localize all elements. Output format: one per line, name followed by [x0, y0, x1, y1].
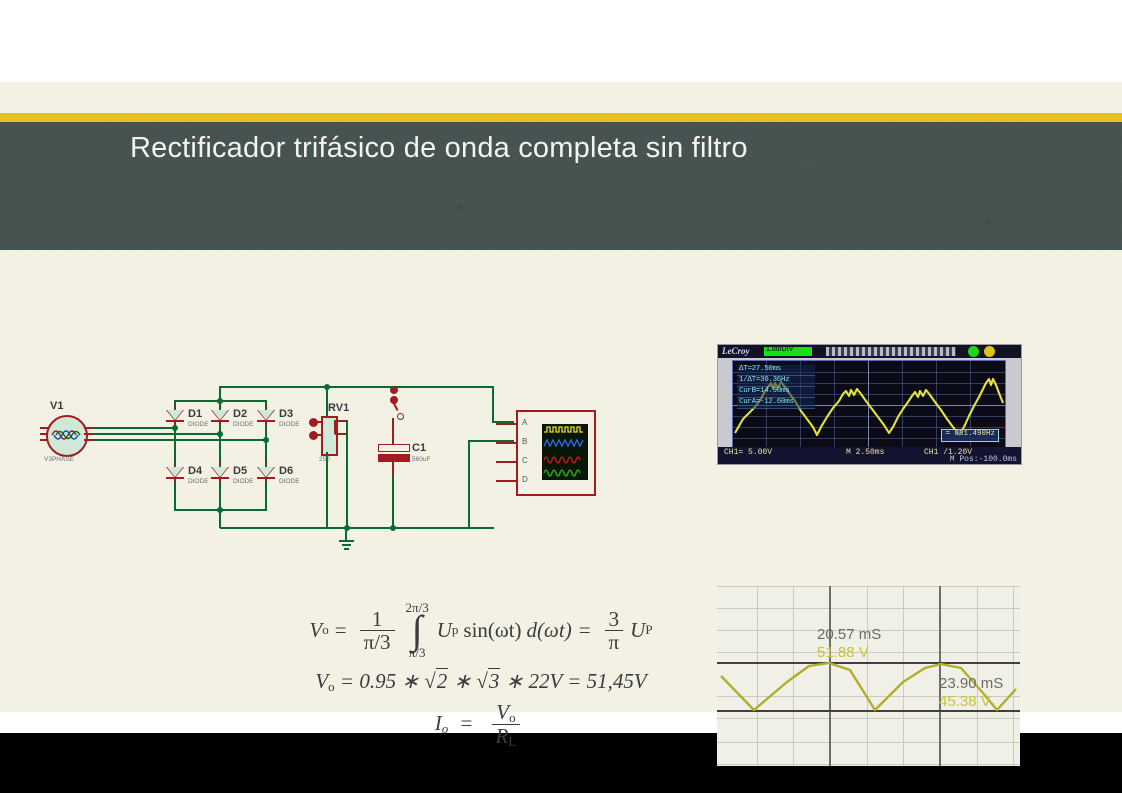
source-model: V3PHASE	[44, 456, 74, 463]
cap-branch-top	[392, 386, 394, 389]
diode-d3-ref: D3	[279, 408, 293, 420]
source-lead-left-1	[40, 427, 48, 429]
formula2-eq2: =	[567, 669, 581, 693]
capacitor-top-lead	[392, 418, 394, 444]
formula-integral-lower: π/3	[409, 645, 426, 661]
lecroy-status-led-yellow	[984, 346, 995, 357]
formula2-lhs-sub: o	[328, 679, 335, 694]
diode-d3-type: DIODE	[279, 421, 300, 428]
diode-d6-type: DIODE	[279, 478, 300, 485]
diode-d2-ref: D2	[233, 408, 247, 420]
scope-wire-b-h	[468, 527, 494, 529]
diode-d2-type: DIODE	[233, 421, 254, 428]
scope-traces-icon	[542, 424, 588, 480]
formula2-star1: ∗	[401, 669, 419, 693]
diode-d4-type: DIODE	[188, 478, 209, 485]
lecroy-oscilloscope-photo: LeCroy 1.00/DIV	[717, 344, 1022, 465]
formula3-eq: =	[460, 711, 472, 735]
lecroy-titlebar: LeCroy 1.00/DIV	[718, 345, 1021, 358]
scope-pin-a	[496, 423, 518, 425]
formula-frac-left-den: π/3	[360, 630, 395, 653]
formula3-den-wrap: RL	[492, 724, 521, 749]
phase-wire-b	[94, 433, 220, 435]
formula3-den-sub: L	[508, 734, 516, 749]
formula-frac-right-num: 3	[605, 608, 624, 630]
source-lead-right-3	[84, 439, 94, 441]
formula3-num-wrap: Vo	[492, 701, 519, 725]
lecroy-readout-delta-t: ΔT=27.50ms	[737, 365, 815, 376]
formula-up-sub: p	[452, 622, 459, 638]
formula-up: U	[437, 618, 452, 643]
diode-d1-ref: D1	[188, 408, 202, 420]
formula-frac-right: 3 π	[605, 608, 624, 653]
slide-body: V1 V3PHASE	[0, 250, 1122, 712]
pot-bottom-wire	[326, 452, 328, 528]
formula-integral: 2π/3 ∫ π/3	[406, 600, 429, 661]
lecroy-readout-cursor-b: CurB=14.90ms	[737, 387, 815, 398]
formula2-star2: ∗	[453, 669, 471, 693]
potentiometer-value: 250	[319, 456, 330, 463]
circuit-schematic: V1 V3PHASE	[40, 380, 610, 580]
scope-wire-b-v	[468, 440, 470, 528]
dc-positive-rail	[220, 386, 492, 388]
formula3-io-sub: o	[442, 721, 449, 736]
formula3-frac: Vo RL	[492, 701, 521, 749]
dc-negative-rail	[220, 527, 492, 529]
formula-up-result-sub: P	[645, 622, 652, 638]
lecroy-status-led-green	[968, 346, 979, 357]
header-top-cream-band	[0, 82, 1122, 113]
diode-d6-symbol	[255, 465, 277, 481]
source-lead-left-2	[40, 433, 48, 435]
diode-d1-type: DIODE	[188, 421, 209, 428]
formula2-result: 51,45V	[587, 669, 647, 693]
diode-d4-ref: D4	[188, 465, 202, 477]
lecroy-frequency-readout: = 881.490Hz	[941, 429, 999, 442]
potentiometer-ref: RV1	[328, 402, 349, 414]
formula-sin: sin(ωt)	[463, 618, 521, 643]
pot-wiper-wire	[346, 420, 348, 528]
plot-annotation-time-1: 20.57 mS	[817, 626, 881, 643]
formula-eq-2: =	[579, 618, 591, 643]
three-phase-waveform-icon	[51, 425, 81, 445]
cap-ground-node	[390, 525, 396, 531]
formula-eq-1: =	[335, 618, 347, 643]
formula3-num: V	[496, 700, 509, 724]
formula-block: Vo = 1 π/3 2π/3 ∫ π/3 Up sin(ωt) d(ωt) =	[296, 600, 666, 749]
lecroy-channel-scale: CH1= 5.00V	[724, 448, 772, 457]
formula3-num-sub: o	[509, 710, 516, 725]
formula2-lhs: V	[315, 669, 328, 693]
three-phase-source-icon	[46, 415, 88, 457]
switch-contact[interactable]	[397, 413, 404, 420]
lecroy-trace-ribbon	[826, 347, 956, 356]
pot-lead-2	[316, 434, 322, 436]
lecroy-horizontal-position: M Pos:-100.0ms	[950, 455, 1017, 464]
capacitor-ref: C1	[412, 442, 426, 454]
formula2-f1: 2	[436, 668, 449, 693]
phase-wire-c	[94, 439, 266, 441]
source-lead-right-2	[84, 433, 94, 435]
source-ref: V1	[50, 400, 63, 412]
scope-pin-b	[496, 442, 518, 444]
lecroy-brand-logo: LeCroy	[722, 346, 750, 356]
page-title: Rectificador trifásico de onda completa …	[130, 132, 748, 165]
diode-d2-symbol	[209, 408, 231, 424]
diode-d1-symbol	[164, 408, 186, 424]
header-gold-stripe	[0, 113, 1122, 122]
capacitor-plate-bottom	[378, 454, 410, 462]
lecroy-readout-inv-delta-t: 1/ΔT=36.36Hz	[737, 376, 815, 387]
plot-annotation-voltage-2: 45.38 V	[939, 693, 991, 710]
plot-annotation-time-2: 23.90 mS	[939, 675, 1003, 692]
source-lead-right-1	[84, 427, 94, 429]
formula3-den: R	[496, 724, 509, 748]
scope-label-b: B	[522, 437, 527, 446]
lecroy-badge-label: 1.00/DIV	[766, 346, 793, 353]
scope-label-c: C	[522, 456, 528, 465]
pot-wiper-arm	[334, 420, 336, 434]
scope-wire-a-v	[492, 386, 494, 422]
formula-line-3: Io = Vo RL	[296, 701, 666, 749]
sqrt-icon-1: √2	[424, 668, 448, 693]
pot-top-node	[324, 384, 330, 390]
slide: Rectificador trifásico de onda completa …	[0, 82, 1122, 712]
scope-pin-c	[496, 461, 518, 463]
lecroy-timebase: M 2.50ms	[846, 448, 884, 457]
scope-label-d: D	[522, 475, 528, 484]
pot-top-wire	[326, 386, 328, 416]
diode-d5-symbol	[209, 465, 231, 481]
formula-vo: V	[309, 618, 322, 643]
dc-negative-riser	[219, 509, 221, 528]
phase-wire-a	[94, 427, 175, 429]
formula-line-2: Vo = 0.95 ∗ √2 ∗ √3 ∗ 22V = 51,45V	[296, 669, 666, 695]
formula2-coef: 0.95	[359, 669, 396, 693]
formula-up-result: U	[630, 618, 645, 643]
cap-branch-bottom	[392, 476, 394, 528]
slide-deck: Rectificador trifásico de onda completa …	[0, 0, 1122, 793]
formula-frac-left: 1 π/3	[360, 608, 395, 653]
formula2-star3: ∗	[506, 669, 524, 693]
formula2-volts: 22V	[528, 669, 561, 693]
formula3-io: I	[435, 711, 442, 735]
pot-lead-1	[316, 421, 322, 423]
diode-d6-ref: D6	[279, 465, 293, 477]
lecroy-channel-marker: 1→	[721, 391, 733, 400]
formula2-eq: =	[340, 669, 354, 693]
formula-line-1: Vo = 1 π/3 2π/3 ∫ π/3 Up sin(ωt) d(ωt) =	[296, 600, 666, 661]
formula-frac-left-num: 1	[368, 608, 387, 630]
diode-d4-symbol	[164, 465, 186, 481]
scope-screen	[542, 424, 588, 480]
scope-label-a: A	[522, 418, 527, 427]
lecroy-measurement-readouts: ΔT=27.50ms 1/ΔT=36.36Hz CurB=14.90ms Cur…	[737, 365, 815, 409]
lecroy-graticule: ΔT=27.50ms 1/ΔT=36.36Hz CurB=14.90ms Cur…	[732, 360, 1006, 449]
formula2-f2: 3	[488, 668, 501, 693]
formula-dwt: d(ωt)	[527, 618, 572, 643]
lecroy-statusbar: CH1= 5.00V M 2.50ms CH1 /1.20V M Pos:-10…	[718, 447, 1021, 464]
capacitor-value: 560uF	[412, 456, 430, 463]
sqrt-icon-2: √3	[476, 668, 500, 693]
oscilloscope-instrument[interactable]: A B C D	[516, 410, 596, 496]
diode-d5-ref: D5	[233, 465, 247, 477]
formula-vo-sub: o	[322, 622, 329, 638]
diode-d3-symbol	[255, 408, 277, 424]
scope-pin-d	[496, 480, 518, 482]
formula-frac-right-den: π	[605, 630, 624, 653]
diode-d5-type: DIODE	[233, 478, 254, 485]
dc-positive-riser	[219, 386, 221, 401]
capacitor-plate-top	[378, 444, 410, 452]
source-lead-left-3	[40, 439, 48, 441]
lecroy-readout-cursor-a: CurA=-12.60ms	[737, 398, 815, 409]
rectified-output-plot: 20.57 mS 51.88 V 23.90 mS 45.38 V	[717, 586, 1020, 766]
plot-annotation-voltage-1: 51.88 V	[817, 644, 869, 661]
integral-sign-icon: ∫	[412, 616, 423, 645]
lecroy-badge: 1.00/DIV	[764, 347, 812, 356]
